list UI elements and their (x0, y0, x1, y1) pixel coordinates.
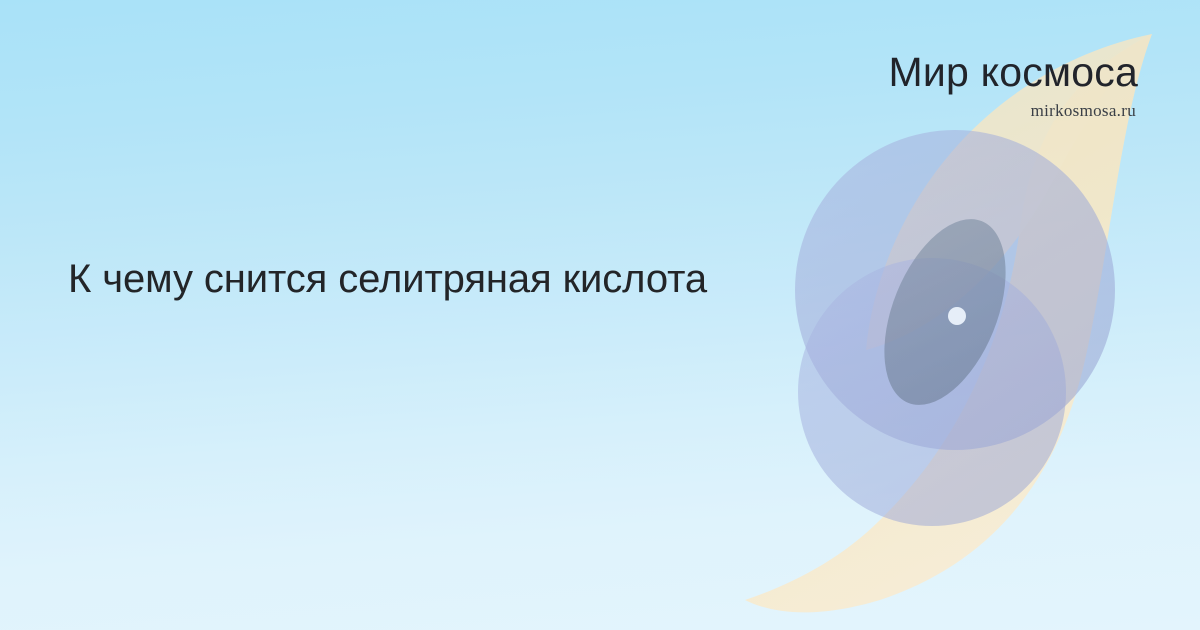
white-dot-shape (948, 307, 966, 325)
site-logo[interactable]: Мир космоса mirkosmosa.ru (889, 52, 1138, 119)
site-logo-domain: mirkosmosa.ru (889, 102, 1136, 119)
article-title: К чему снится селитряная кислота (68, 255, 968, 304)
site-logo-name: Мир космоса (889, 52, 1138, 93)
dark-ellipse-shape (860, 202, 1030, 423)
cream-crescent-shape (745, 34, 1152, 612)
share-card: Мир космоса mirkosmosa.ru К чему снится … (0, 0, 1200, 630)
